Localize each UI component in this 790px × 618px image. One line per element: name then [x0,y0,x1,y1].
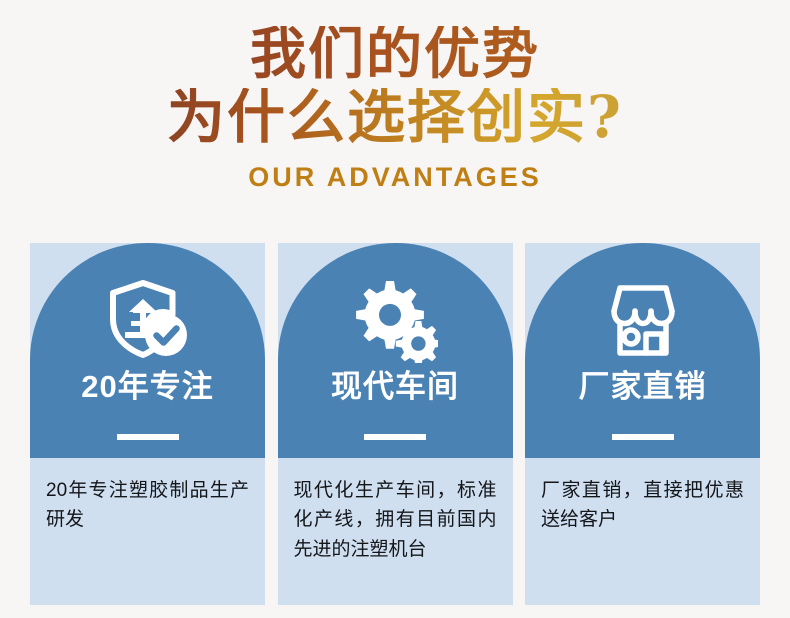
page-subtitle: OUR ADVANTAGES [0,162,790,193]
card-body-3: 厂家直销，直接把优惠送给客户 [525,458,760,605]
card-title-3: 厂家直销 [579,370,707,404]
page-title-line-1: 我们的优势 [0,26,790,82]
card-header-3: 厂家直销 [525,243,760,458]
storefront-icon [598,278,688,364]
advantages-banner: 我们的优势 为什么选择创实? OUR ADVANTAGES [0,0,790,618]
advantage-card-2[interactable]: 现代车间 现代化生产车间，标准化产线，拥有目前国内先进的注塑机台 [278,243,513,605]
advantage-card-list: 20年专注 20年专注塑胶制品生产研发 [30,243,760,605]
card-header-2: 现代车间 [278,243,513,458]
gears-icon [352,278,438,364]
advantage-card-1[interactable]: 20年专注 20年专注塑胶制品生产研发 [30,243,265,605]
card-description-1: 20年专注塑胶制品生产研发 [46,476,249,535]
card-body-1: 20年专注塑胶制品生产研发 [30,458,265,605]
card-header-1: 20年专注 [30,243,265,458]
card-divider-2 [364,434,426,440]
card-description-2: 现代化生产车间，标准化产线，拥有目前国内先进的注塑机台 [294,476,497,564]
card-divider-3 [612,434,674,440]
card-title-2: 现代车间 [331,370,459,404]
card-divider-1 [117,434,179,440]
header: 我们的优势 为什么选择创实? OUR ADVANTAGES [0,0,790,220]
card-description-3: 厂家直销，直接把优惠送给客户 [541,476,744,535]
shield-check-icon [105,278,191,364]
card-body-2: 现代化生产车间，标准化产线，拥有目前国内先进的注塑机台 [278,458,513,605]
card-title-1: 20年专注 [81,370,213,404]
advantage-card-3[interactable]: 厂家直销 厂家直销，直接把优惠送给客户 [525,243,760,605]
page-title-line-2: 为什么选择创实? [0,88,790,146]
